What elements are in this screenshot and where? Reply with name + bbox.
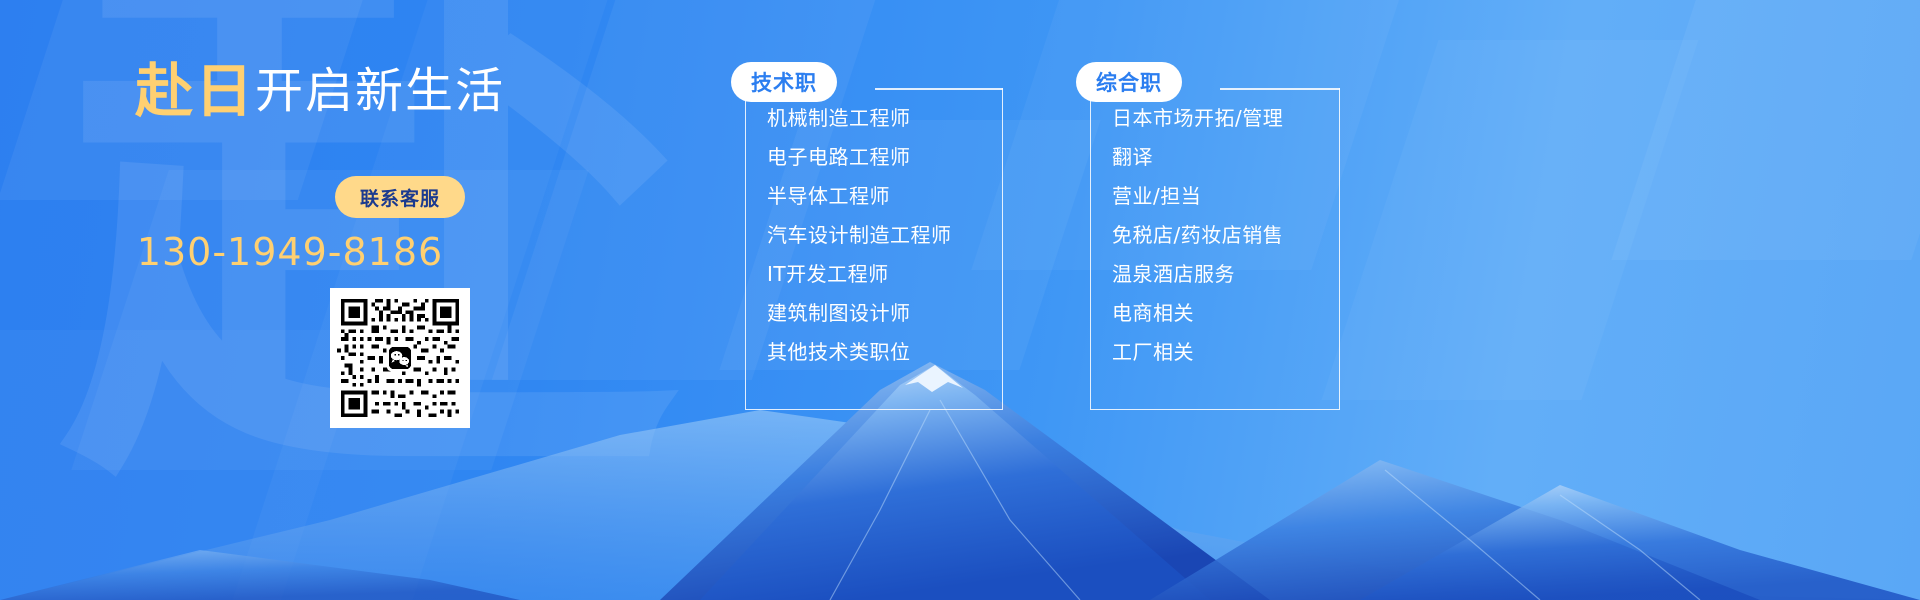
list-item[interactable]: 汽车设计制造工程师: [767, 225, 997, 245]
list-item[interactable]: 翻译: [1112, 147, 1334, 167]
badge-general[interactable]: 综合职: [1076, 62, 1182, 102]
list-item[interactable]: 营业/担当: [1112, 186, 1334, 206]
list-item[interactable]: 电商相关: [1112, 303, 1334, 323]
qr-code-image: [337, 295, 463, 421]
frame-top-right-segment: [1220, 88, 1340, 90]
wechat-qr-code[interactable]: [330, 288, 470, 428]
job-category-general: 综合职 日本市场开拓/管理 翻译 营业/担当 免税店/药妆店销售 温泉酒店服务 …: [1090, 88, 1340, 410]
list-item[interactable]: 半导体工程师: [767, 186, 997, 206]
list-item[interactable]: 日本市场开拓/管理: [1112, 108, 1334, 128]
badge-technical[interactable]: 技术职: [731, 62, 837, 102]
contact-support-button[interactable]: 联系客服: [335, 176, 465, 218]
list-item[interactable]: 工厂相关: [1112, 342, 1334, 362]
headline-highlight: 赴日: [135, 57, 255, 125]
page-title: 赴日开启新生活: [0, 44, 640, 128]
bg-slab: [1611, 0, 1920, 260]
job-category-technical: 技术职 机械制造工程师 电子电路工程师 半导体工程师 汽车设计制造工程师 IT开…: [745, 88, 1003, 410]
headline-rest: 开启新生活: [255, 63, 505, 119]
list-item[interactable]: 电子电路工程师: [767, 147, 997, 167]
list-item[interactable]: 其他技术类职位: [767, 342, 997, 362]
frame-top-right-segment: [875, 88, 1003, 90]
promo-banner: 赴: [0, 0, 1920, 600]
left-content-block: 赴日开启新生活 联系客服 130-1949-8186: [0, 0, 700, 600]
list-item[interactable]: 机械制造工程师: [767, 108, 997, 128]
list-item[interactable]: IT开发工程师: [767, 264, 997, 284]
list-item[interactable]: 建筑制图设计师: [767, 303, 997, 323]
list-item[interactable]: 免税店/药妆店销售: [1112, 225, 1334, 245]
technical-job-list: 机械制造工程师 电子电路工程师 半导体工程师 汽车设计制造工程师 IT开发工程师…: [767, 108, 997, 381]
list-item[interactable]: 温泉酒店服务: [1112, 264, 1334, 284]
phone-number[interactable]: 130-1949-8186: [0, 230, 580, 274]
general-job-list: 日本市场开拓/管理 翻译 营业/担当 免税店/药妆店销售 温泉酒店服务 电商相关…: [1112, 108, 1334, 381]
